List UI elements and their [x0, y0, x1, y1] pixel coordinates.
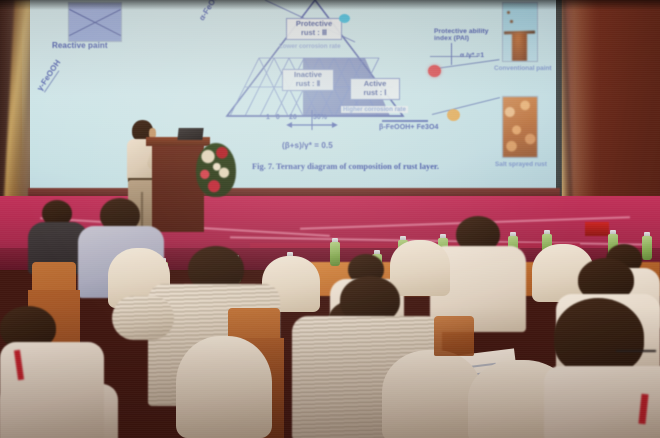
pai-horizontal-rule	[430, 56, 478, 57]
lower-corrosion-note: Lower corrosion rate	[279, 43, 341, 50]
eyeglasses	[616, 350, 656, 352]
projection-screen: Reactive paint γ-FeOOH α-FeOOH	[30, 0, 556, 196]
bottom-formula: (β+s)/γ* = 0.5	[282, 142, 333, 150]
salt-sprayed-rust-label: Salt sprayed rust	[495, 161, 547, 168]
salt-sprayed-rust-photo	[502, 96, 538, 158]
region-active-name: Active	[364, 79, 387, 88]
paint-speck-2	[510, 20, 513, 23]
chair-front-center	[176, 336, 272, 438]
leader-to-salt-rust	[432, 97, 500, 115]
higher-corrosion-note: Higher corrosion rate	[341, 106, 408, 113]
top-shadow	[0, 0, 660, 10]
attendee-striped-arm	[112, 296, 174, 340]
red-equipment-box	[585, 222, 609, 236]
pai-label: Protective ability index (PAI)	[434, 29, 490, 43]
region-inactive-name: Inactive	[294, 70, 322, 79]
region-inactive-rust: rust : Ⅱ	[296, 79, 321, 88]
reactive-paint-label: Reactive paint	[52, 42, 108, 50]
conventional-paint-photo	[502, 2, 538, 62]
conventional-paint-label: Conventional paint	[494, 65, 552, 72]
attendee-head	[554, 298, 644, 374]
salt-sprayed-marker-dot	[447, 109, 460, 121]
scale-tick-10: 10	[266, 114, 286, 121]
region-active-box: Active rust : Ⅰ	[350, 78, 400, 100]
axis-label-beta-feooh: β-FeOOH+ Fe3O4	[379, 124, 439, 131]
paint-speck-1	[507, 11, 510, 14]
scale-tick-20: 20	[289, 114, 297, 121]
floral-arrangement	[196, 143, 236, 197]
region-inactive-box: Inactive rust : Ⅱ	[282, 69, 334, 91]
axis-label-gamma-feooh: γ-FeOOH	[36, 59, 63, 93]
conventional-paint-marker-dot	[428, 65, 441, 77]
attendee-front-lanyard	[0, 306, 104, 438]
paint-rust-blob	[512, 33, 528, 61]
conference-photo: Reactive paint γ-FeOOH α-FeOOH	[0, 0, 660, 438]
podium-laptop	[177, 128, 203, 140]
chair-back-right-edge	[434, 316, 474, 356]
region-protective-name: Protective	[296, 19, 332, 28]
attendee-front-right-glasses	[520, 298, 660, 438]
leader-to-conventional-paint	[436, 59, 500, 69]
region-protective-box: Protective rust : Ⅲ	[286, 18, 342, 40]
beta-axis-underline	[382, 120, 428, 122]
pai-vertical-rule	[451, 43, 452, 65]
chair-front-right	[382, 350, 482, 438]
attendee-arm	[112, 296, 174, 340]
slide-content: Reactive paint γ-FeOOH α-FeOOH	[30, 0, 556, 192]
protective-marker-dot	[339, 14, 350, 23]
region-active-rust: rust : Ⅰ	[363, 88, 386, 97]
figure-caption: Fig. 7. Ternary diagram of composition o…	[252, 162, 439, 171]
scale-tick-30: 30%	[313, 114, 327, 121]
region-protective-rust: rust : Ⅲ	[301, 28, 327, 37]
